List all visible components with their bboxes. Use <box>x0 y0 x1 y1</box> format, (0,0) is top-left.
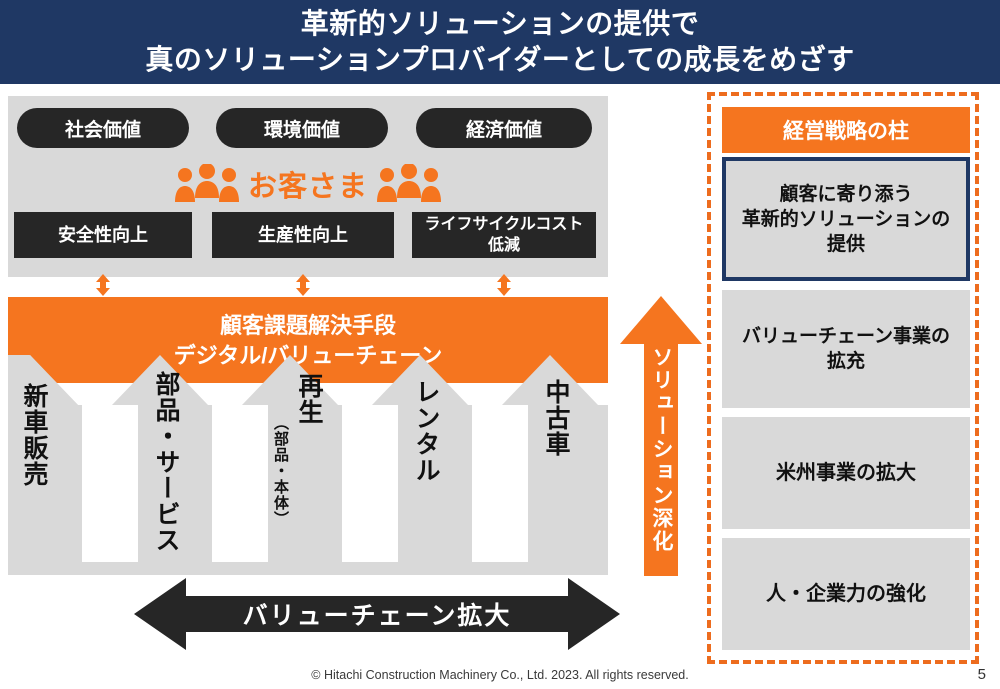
value-chain-expansion-arrow <box>134 578 620 650</box>
value-pill-social-label: 社会価値 <box>65 115 141 142</box>
copyright-notice: © Hitachi Construction Machinery Co., Lt… <box>0 668 1000 682</box>
strategy-box-people-corporate-strength[interactable]: 人・企業力の強化 <box>722 538 970 650</box>
double-arrow-vertical-icon <box>295 274 311 296</box>
strategy-box-1-line-3: 提供 <box>742 232 951 257</box>
value-pill-economic: 経済価値 <box>416 108 592 148</box>
strategy-box-value-chain-expansion[interactable]: バリューチェーン事業の 拡充 <box>722 290 970 408</box>
benefit-box-productivity-label: 生産性向上 <box>258 225 348 246</box>
strategy-box-1-line-1: 顧客に寄り添う <box>742 182 951 207</box>
business-pillar-used-vehicle-label: 中古車 <box>538 379 574 457</box>
slide-title-banner: 革新的ソリューションの提供で 真のソリューションプロバイダーとしての成長をめざす <box>0 0 1000 84</box>
slide-canvas: 革新的ソリューションの提供で 真のソリューションプロバイダーとしての成長をめざす… <box>0 0 1000 689</box>
strategy-box-4-line-1: 人・企業力の強化 <box>766 582 926 607</box>
customer-row: お客さま <box>8 158 608 210</box>
business-pillars-group: 新車販売 部品・サービス （部品・本体） 再生 レンタル 中古車 <box>8 355 608 575</box>
slide-title-line-1: 革新的ソリューションの提供で <box>301 6 699 42</box>
solution-deepening-arrow <box>620 296 702 576</box>
benefit-box-productivity: 生産性向上 <box>212 212 394 258</box>
strategy-box-innovative-solutions[interactable]: 顧客に寄り添う 革新的ソリューションの 提供 <box>722 157 970 281</box>
double-arrow-vertical-icon <box>496 274 512 296</box>
strategy-panel-header-label: 経営戦略の柱 <box>783 115 909 145</box>
business-pillar-remanufacturing-main: 再生 <box>291 373 327 425</box>
strategy-box-1-line-2: 革新的ソリューションの <box>742 207 951 232</box>
strategy-box-2-line-1: バリューチェーン事業の <box>742 324 950 349</box>
business-pillar-new-vehicle-sales: 新車販売 <box>16 383 52 487</box>
benefit-box-lifecycle-cost-line-1: ライフサイクルコスト <box>425 214 584 235</box>
customer-label: お客さま <box>248 163 368 205</box>
business-pillar-remanufacturing: （部品・本体） 再生 <box>270 373 327 527</box>
page-number: 5 <box>978 666 986 683</box>
business-pillar-parts-service-label: 部品・サービス <box>148 371 184 553</box>
business-pillar-parts-service: 部品・サービス <box>148 371 184 553</box>
business-pillar-new-vehicle-sales-label: 新車販売 <box>16 383 52 487</box>
business-pillar-rental: レンタル <box>408 379 444 483</box>
benefit-box-lifecycle-cost-line-2: 低減 <box>425 235 584 256</box>
strategy-box-americas-expansion[interactable]: 米州事業の拡大 <box>722 417 970 529</box>
benefit-box-safety-label: 安全性向上 <box>58 225 148 246</box>
business-pillar-rental-label: レンタル <box>408 379 444 483</box>
benefit-box-safety: 安全性向上 <box>14 212 192 258</box>
strategy-box-3-line-1: 米州事業の拡大 <box>776 461 916 486</box>
people-group-icon <box>174 164 240 204</box>
value-pill-social: 社会価値 <box>17 108 189 148</box>
benefit-box-lifecycle-cost: ライフサイクルコスト 低減 <box>412 212 596 258</box>
double-arrow-vertical-icon <box>95 274 111 296</box>
strategy-panel-header: 経営戦略の柱 <box>722 107 970 153</box>
business-pillar-used-vehicle: 中古車 <box>538 379 574 457</box>
people-group-icon <box>376 164 442 204</box>
slide-title-line-2: 真のソリューションプロバイダーとしての成長をめざす <box>145 42 854 78</box>
value-pill-economic-label: 経済価値 <box>466 115 542 142</box>
value-pill-environment-label: 環境価値 <box>264 115 340 142</box>
value-pill-environment: 環境価値 <box>216 108 388 148</box>
strategy-box-2-line-2: 拡充 <box>742 349 950 374</box>
business-pillar-remanufacturing-sub: （部品・本体） <box>270 415 291 527</box>
